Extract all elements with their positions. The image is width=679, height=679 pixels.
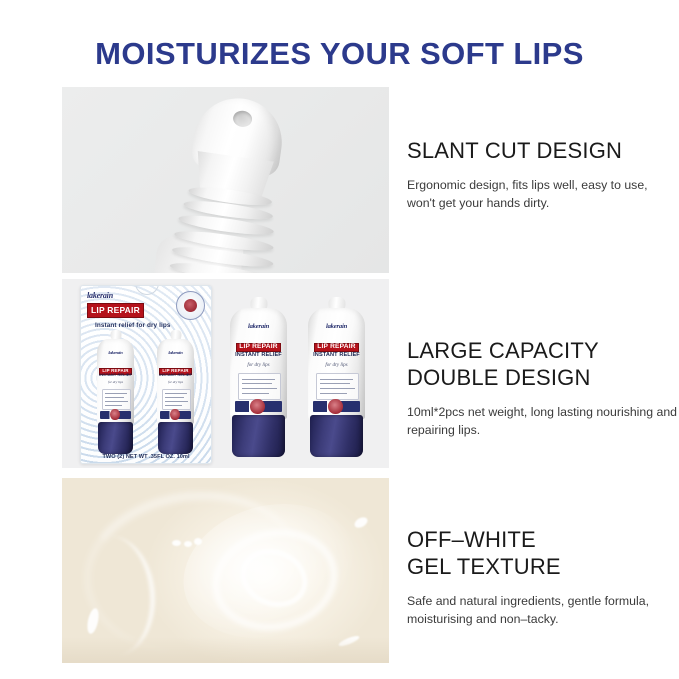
blister-pack: lakerain LIP REPAIR Instant relief for d… (80, 285, 212, 464)
gel-swirl-ring-1 (203, 518, 347, 642)
tube-cap (98, 422, 132, 454)
feature-row-off-white-gel-texture: OFF–WHITE GEL TEXTURE Safe and natural i… (62, 478, 679, 663)
packaged-tube-right: lakerain LIP REPAIR INSTANT RELIEF for d… (157, 330, 194, 454)
tube-claim: INSTANT RELIEF (157, 373, 194, 377)
product-tube-2: lakerain LIP REPAIR INSTANT RELIEF for d… (308, 297, 365, 457)
feature-image-off-white-gel-texture (62, 478, 389, 663)
tube-brand: lakerain (308, 324, 365, 331)
gel-highlight (353, 515, 370, 530)
tube-ingredient-box (316, 373, 359, 400)
blister-header: lakerain LIP REPAIR (87, 291, 161, 318)
tube-brand: lakerain (157, 351, 194, 356)
brand-name: lakerain (87, 291, 161, 300)
tube-claim-sub: for dry lips (157, 381, 194, 384)
page-title: MOISTURIZES YOUR SOFT LIPS (0, 36, 679, 72)
tube-cap (310, 415, 362, 457)
applicator-tip (167, 88, 296, 273)
feature-heading-line-2: DOUBLE DESIGN (407, 364, 679, 391)
tube-claim: INSTANT RELIEF (230, 353, 287, 359)
feature-heading: LARGE CAPACITY DOUBLE DESIGN (407, 337, 679, 391)
feature-image-slant-cut-design (62, 87, 389, 273)
packaged-tube-left: lakerain LIP REPAIR INSTANT RELIEF for d… (97, 330, 134, 454)
tube-bottom-strip (313, 401, 361, 412)
feature-text-large-capacity-double-design: LARGE CAPACITY DOUBLE DESIGN 10ml*2pcs n… (407, 337, 679, 439)
feature-heading-line-1: OFF–WHITE (407, 526, 679, 553)
gel-highlight (184, 541, 192, 547)
feature-heading-line-2: GEL TEXTURE (407, 553, 679, 580)
tube-cap (158, 422, 192, 454)
feature-text-slant-cut-design: SLANT CUT DESIGN Ergonomic design, fits … (407, 137, 679, 212)
tube-claim-sub: for dry lips (308, 363, 365, 368)
feature-description: Safe and natural ingredients, gentle for… (407, 593, 679, 628)
tube-barrel: lakerain LIP REPAIR INSTANT RELIEF for d… (230, 308, 287, 420)
tube-claim-sub: for dry lips (97, 381, 134, 384)
tip-dispense-hole (232, 110, 253, 128)
gel-highlight (194, 538, 202, 545)
package-net-weight: TWO (2) NET WT .35FL OZ. 10ml (81, 454, 211, 460)
feature-description: 10ml*2pcs net weight, long lasting nouri… (407, 404, 679, 439)
gel-swirl-ring-2 (232, 539, 316, 616)
tube-claim-sub: for dry lips (230, 363, 287, 368)
tube-product-name: LIP REPAIR (236, 343, 280, 353)
tube-barrel: lakerain LIP REPAIR INSTANT RELIEF for d… (308, 308, 365, 420)
tube-claim: INSTANT RELIEF (97, 373, 134, 377)
tube-brand: lakerain (97, 351, 134, 356)
gel-swirl-outer (74, 478, 310, 663)
gel-highlight (85, 607, 100, 635)
feature-heading: SLANT CUT DESIGN (407, 137, 679, 164)
tube-ingredient-box (162, 389, 191, 410)
tube-barrel: lakerain LIP REPAIR INSTANT RELIEF for d… (97, 339, 134, 426)
package-tagline: Instant relief for dry lips (95, 322, 171, 329)
feature-description: Ergonomic design, fits lips well, easy t… (407, 177, 679, 212)
tube-product-banner: LIP REPAIR (230, 336, 287, 352)
applicator-tip-illustration (62, 87, 389, 273)
tube-ingredient-box (102, 389, 131, 410)
tube-bottom-strip (100, 411, 131, 420)
tube-product-banner: LIP REPAIR (308, 336, 365, 352)
tube-barrel: lakerain LIP REPAIR INSTANT RELIEF for d… (157, 339, 194, 426)
tube-ingredient-box (238, 373, 281, 400)
gel-highlight (172, 540, 181, 546)
tube-claim: INSTANT RELIEF (308, 353, 365, 359)
product-name-banner: LIP REPAIR (87, 303, 144, 318)
product-tube-1: lakerain LIP REPAIR INSTANT RELIEF for d… (230, 297, 287, 457)
tube-product-name: LIP REPAIR (314, 343, 358, 353)
tube-bottom-strip (160, 411, 191, 420)
feature-image-large-capacity-double-design: lakerain LIP REPAIR Instant relief for d… (62, 279, 389, 468)
product-packaging-illustration: lakerain LIP REPAIR Instant relief for d… (62, 279, 389, 468)
feature-heading-line-1: LARGE CAPACITY (407, 337, 679, 364)
tube-bottom-strip (235, 401, 283, 412)
gel-bottom-shadow (62, 637, 389, 663)
tip-threaded-neck (169, 183, 281, 273)
tube-cap (232, 415, 284, 457)
gel-swirl-core (167, 484, 372, 657)
quality-seal-badge (176, 291, 205, 320)
gel-texture-illustration (62, 478, 389, 663)
tube-brand: lakerain (230, 324, 287, 331)
feature-row-large-capacity-double-design: lakerain LIP REPAIR Instant relief for d… (62, 279, 679, 468)
feature-row-slant-cut-design: SLANT CUT DESIGN Ergonomic design, fits … (62, 87, 679, 273)
feature-heading: OFF–WHITE GEL TEXTURE (407, 526, 679, 580)
feature-text-off-white-gel-texture: OFF–WHITE GEL TEXTURE Safe and natural i… (407, 526, 679, 628)
